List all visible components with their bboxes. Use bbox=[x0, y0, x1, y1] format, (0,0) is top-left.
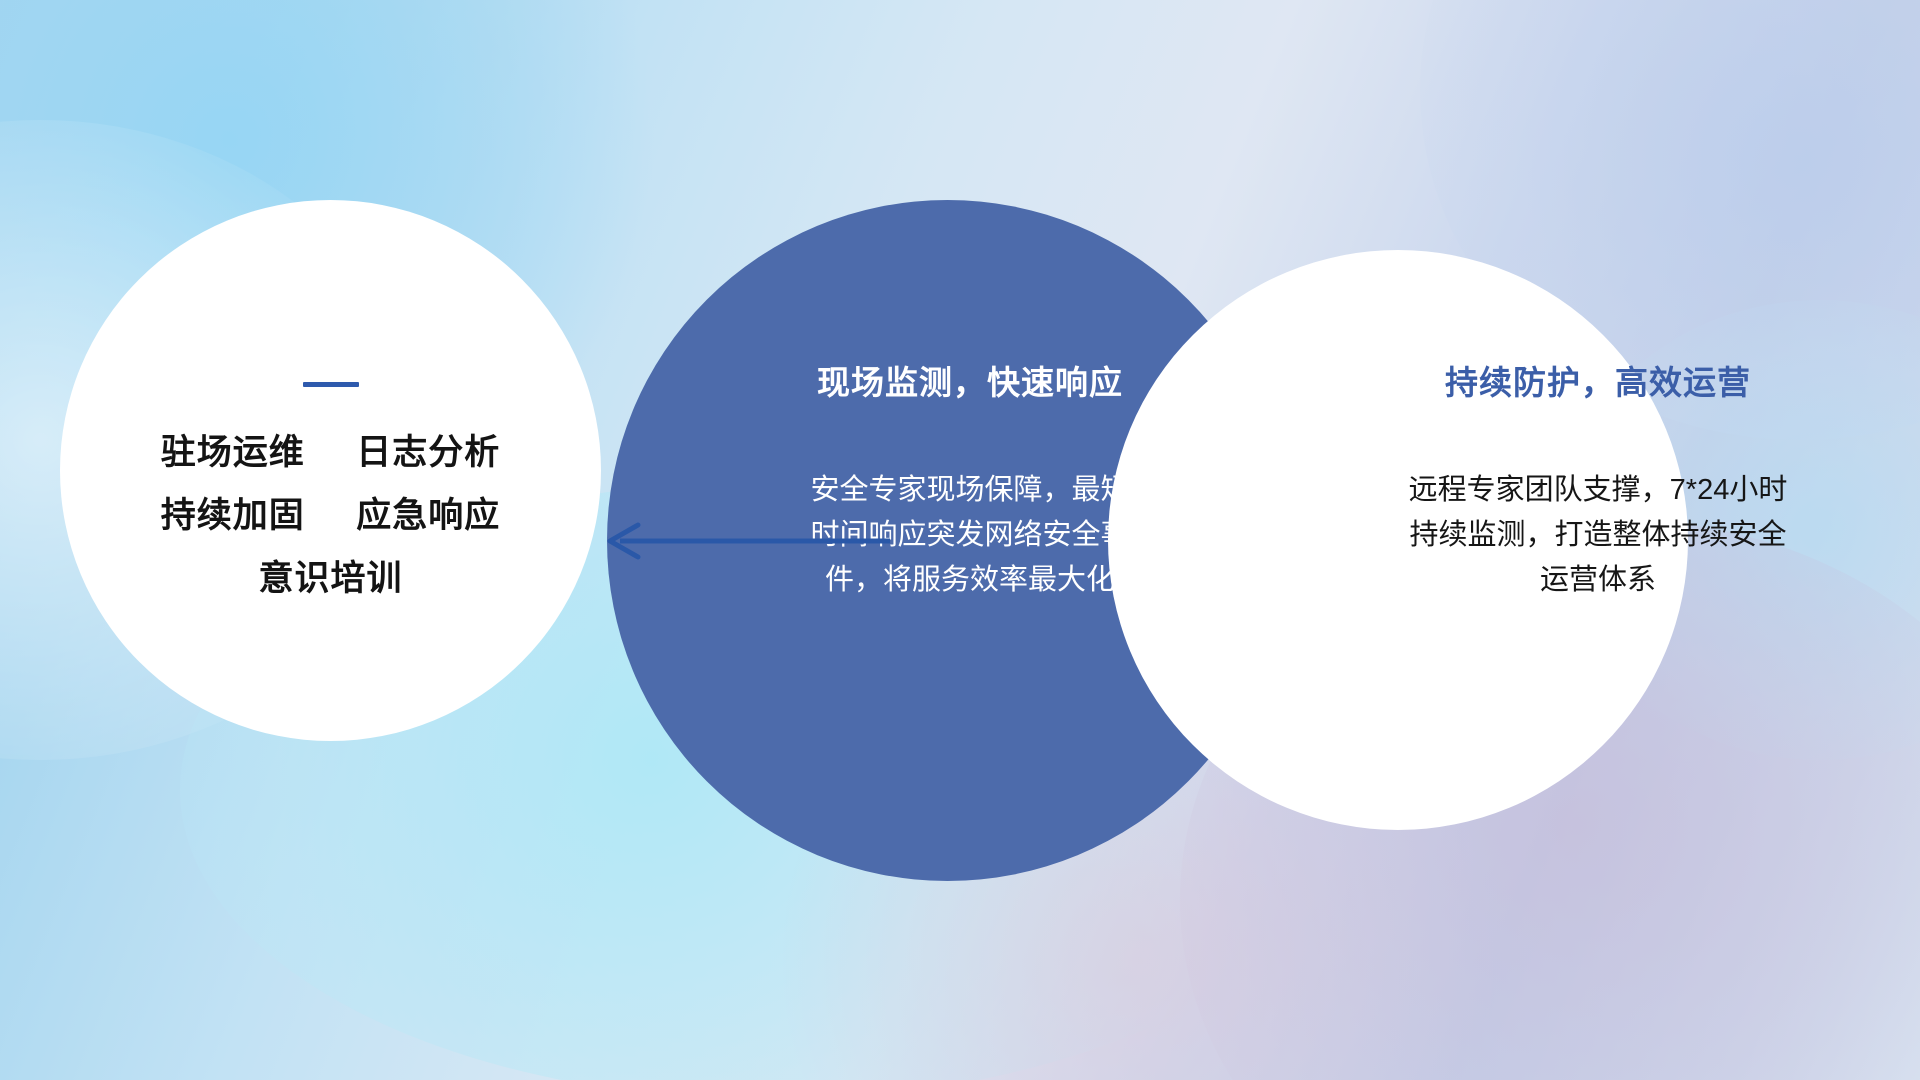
left-circle-content: 驻场运维 日志分析 持续加固 应急响应 意识培训 bbox=[60, 200, 601, 741]
middle-circle-heading: 现场监测，快速响应 bbox=[817, 364, 1123, 402]
left-circle-item-rizhifenxi: 日志分析 bbox=[356, 433, 500, 472]
left-circle-item-yingjixiangying: 应急响应 bbox=[356, 496, 500, 535]
right-circle-body: 远程专家团队支撑，7*24小时持续监测，打造整体持续安全运营体系 bbox=[1398, 468, 1798, 603]
right-circle-content: 持续防护，高效运营 远程专家团队支撑，7*24小时持续监测，打造整体持续安全运营… bbox=[1368, 270, 1828, 810]
left-circle-item-yishipeixun: 意识培训 bbox=[258, 559, 402, 598]
left-circle-row-2: 持续加固 应急响应 bbox=[161, 498, 501, 533]
right-circle-heading: 持续防护，高效运营 bbox=[1445, 364, 1751, 402]
connector-arrow-icon bbox=[590, 505, 890, 577]
slide-canvas: 驻场运维 日志分析 持续加固 应急响应 意识培训 现场监测，快速响应 安全专家现… bbox=[0, 0, 1920, 1080]
left-circle-row-3: 意识培训 bbox=[258, 561, 402, 596]
left-circle-item-zhuchangyunwei: 驻场运维 bbox=[161, 433, 305, 472]
left-circle-item-chixujiagu: 持续加固 bbox=[161, 496, 305, 535]
left-circle-row-1: 驻场运维 日志分析 bbox=[161, 435, 501, 470]
divider-dash-icon bbox=[303, 382, 359, 387]
